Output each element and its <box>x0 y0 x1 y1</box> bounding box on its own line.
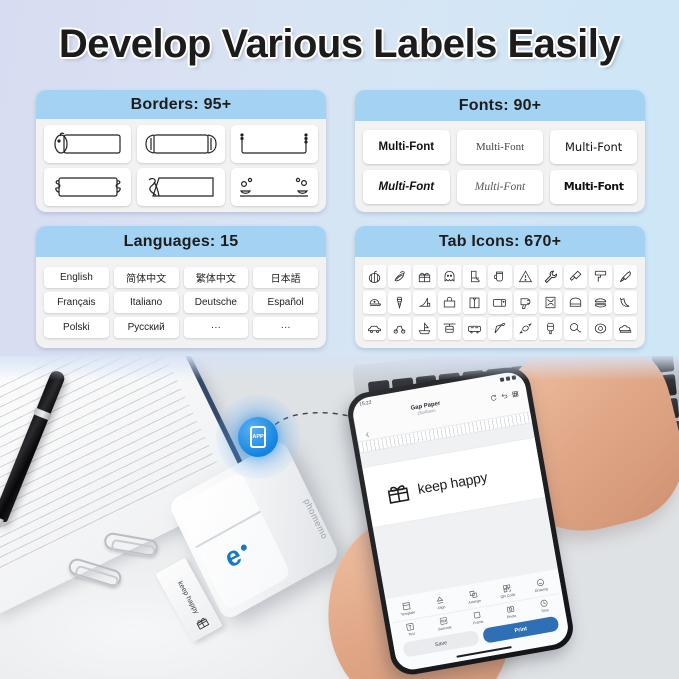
language-french[interactable]: Français <box>44 292 109 313</box>
paint-roller-icon[interactable] <box>589 265 612 288</box>
label-canvas-area: keep happy <box>358 412 558 599</box>
border-dotted-corners[interactable] <box>231 125 318 163</box>
banana-icon[interactable] <box>614 291 637 314</box>
printed-label-text: keep happy <box>176 580 200 615</box>
leaves-icon[interactable] <box>388 265 411 288</box>
panel-tab-icons: Tab Icons: 670+ <box>355 226 645 348</box>
boot-icon[interactable] <box>463 265 486 288</box>
qr-code-tool[interactable]: QR Code <box>490 579 525 602</box>
hair-dryer-icon[interactable] <box>514 291 537 314</box>
feature-panels: Borders: 95+ <box>36 90 645 362</box>
high-heel-icon[interactable] <box>413 291 436 314</box>
shirt-icon[interactable] <box>463 291 486 314</box>
app-badge-core: APP <box>238 417 278 457</box>
paint-brush-icon[interactable] <box>614 265 637 288</box>
font-sans-bold[interactable]: Multi-Font <box>363 130 450 164</box>
time-tool-label: Time <box>541 608 549 613</box>
warning-icon[interactable] <box>514 265 537 288</box>
language-german[interactable]: Deutsche <box>184 292 249 313</box>
font-serif-italic[interactable]: Multi-Font <box>457 170 544 204</box>
language-japanese[interactable]: 日本語 <box>253 267 318 288</box>
text-tool-label: Text <box>408 632 415 637</box>
product-photo: e phomemo keep happy APP 15:22 <box>0 356 679 679</box>
photo-tool-label: Photo <box>507 614 517 620</box>
handbag-icon[interactable] <box>438 291 461 314</box>
grid-icon[interactable] <box>511 390 519 398</box>
microwave-icon[interactable] <box>488 291 511 314</box>
ghost-icon[interactable] <box>438 265 461 288</box>
arrange-tool[interactable]: Arrange <box>457 585 492 608</box>
align-tool-label: Align <box>437 605 446 610</box>
barcode-tool-label: Barcode <box>438 625 452 631</box>
template-tool-label: Template <box>401 610 416 616</box>
pumpkin-icon[interactable] <box>363 265 386 288</box>
app-connectivity-badge: APP <box>216 395 300 479</box>
status-indicators <box>500 375 516 382</box>
panel-borders: Borders: 95+ <box>36 90 326 212</box>
panel-fonts: Fonts: 90+ Multi-Font Multi-Font Multi-F… <box>355 90 645 212</box>
gift-icon[interactable] <box>413 265 436 288</box>
scooter-icon[interactable] <box>388 317 411 340</box>
candy-icon[interactable] <box>514 317 537 340</box>
screwdriver-icon[interactable] <box>564 265 587 288</box>
drawing-tool[interactable]: Drawing <box>523 573 558 596</box>
phone-app-icon: APP <box>250 426 266 448</box>
popsicle-icon[interactable] <box>539 317 562 340</box>
label-text[interactable]: keep happy <box>416 469 488 497</box>
language-simplified-chinese[interactable]: 简体中文 <box>114 267 179 288</box>
status-time: 15:22 <box>359 400 372 408</box>
languages-grid: English 简体中文 繁体中文 日本語 Français Italiano … <box>44 267 318 338</box>
page-header: Develop Various Labels Easily <box>0 22 679 67</box>
border-bird-frame[interactable] <box>44 125 131 163</box>
font-sans-italic[interactable]: Multi-Font <box>363 170 450 204</box>
label-preview[interactable]: keep happy <box>362 437 545 528</box>
mitten-icon[interactable] <box>488 265 511 288</box>
language-russian[interactable]: Русский <box>114 317 179 338</box>
header-actions <box>489 390 519 402</box>
language-italian[interactable]: Italiano <box>114 292 179 313</box>
printed-gift-icon <box>192 613 212 633</box>
carrot-icon[interactable] <box>488 317 511 340</box>
gift-icon[interactable] <box>383 477 413 507</box>
boat-icon[interactable] <box>413 317 436 340</box>
toaster-icon[interactable] <box>564 291 587 314</box>
page-title: Develop Various Labels Easily <box>59 22 620 67</box>
language-traditional-chinese[interactable]: 繁体中文 <box>184 267 249 288</box>
panel-borders-title: Borders: 95+ <box>36 90 326 119</box>
back-icon[interactable] <box>364 431 371 438</box>
arrange-tool-label: Arrange <box>468 599 481 605</box>
hands-holding-phone: 15:22 Gap Paper 25x45mm <box>322 356 679 679</box>
iron-icon[interactable] <box>539 291 562 314</box>
burger-icon[interactable] <box>589 291 612 314</box>
borders-grid <box>44 125 318 206</box>
cable-car-icon[interactable] <box>438 317 461 340</box>
font-display-bold[interactable]: Multi-Font <box>550 170 637 204</box>
font-sans-regular[interactable]: Multi-Font <box>550 130 637 164</box>
language-polish[interactable]: Polski <box>44 317 109 338</box>
drawing-tool-label: Drawing <box>534 587 548 593</box>
language-spanish[interactable]: Español <box>253 292 318 313</box>
drumstick-icon[interactable] <box>564 317 587 340</box>
language-more-1[interactable]: ··· <box>184 317 249 338</box>
panel-fonts-title: Fonts: 90+ <box>355 90 645 121</box>
tab-icons-grid <box>363 265 637 340</box>
undo-icon[interactable] <box>500 391 508 399</box>
necktie-icon[interactable] <box>388 291 411 314</box>
car-icon[interactable] <box>363 317 386 340</box>
fonts-grid: Multi-Font Multi-Font Multi-Font Multi-F… <box>363 130 637 204</box>
language-english[interactable]: English <box>44 267 109 288</box>
panel-tab-icons-title: Tab Icons: 670+ <box>355 226 645 257</box>
border-clip-sides[interactable] <box>44 168 131 206</box>
cap-icon[interactable] <box>363 291 386 314</box>
frame-tool-label: Frame <box>473 620 484 626</box>
font-serif-regular[interactable]: Multi-Font <box>457 130 544 164</box>
template-tool[interactable]: Template <box>390 597 425 620</box>
rotate-icon[interactable] <box>489 393 497 401</box>
border-ribbon-bow[interactable] <box>137 168 224 206</box>
bread-icon[interactable] <box>614 317 637 340</box>
border-candy-wrapper[interactable] <box>137 125 224 163</box>
panel-languages-title: Languages: 15 <box>36 226 326 257</box>
language-more-2[interactable]: ··· <box>253 317 318 338</box>
panel-languages: Languages: 15 English 简体中文 繁体中文 日本語 Fran… <box>36 226 326 348</box>
border-bubbles-bath[interactable] <box>231 168 318 206</box>
bus-icon[interactable] <box>463 317 486 340</box>
wrench-icon[interactable] <box>539 265 562 288</box>
fried-egg-icon[interactable] <box>589 317 612 340</box>
align-tool[interactable]: Align <box>423 591 458 614</box>
